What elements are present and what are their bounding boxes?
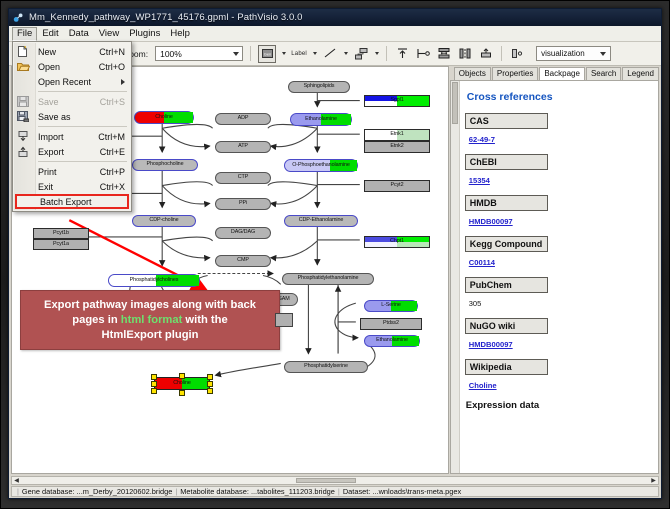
cross-references-title: Cross references: [467, 91, 652, 103]
scrollbar-thumb[interactable]: [296, 478, 356, 483]
selection-handle[interactable]: [151, 374, 157, 380]
label-tool-button[interactable]: Label: [291, 46, 307, 62]
scrollbar-thumb[interactable]: [452, 82, 458, 124]
selection-handle[interactable]: [179, 373, 185, 379]
selection-handle[interactable]: [151, 388, 157, 394]
xref-kegg-compound: Kegg Compound C00114: [465, 236, 652, 270]
side-panel: Objects Properties Backpage Search Legen…: [450, 66, 659, 474]
node-label: ATP: [238, 144, 248, 149]
node-label: Pcyt1a: [53, 242, 69, 247]
node-label: Phosphatidylcholines: [130, 278, 179, 283]
node-dag[interactable]: DAG/DAG: [215, 227, 271, 239]
xref-link[interactable]: C00114: [469, 258, 495, 267]
node-label: Pcyt2: [391, 183, 404, 188]
node-cdp-choline[interactable]: CDP-choline: [132, 215, 196, 227]
scroll-right-arrow[interactable]: ▶: [649, 477, 658, 484]
submenu-arrow-icon: [121, 79, 125, 85]
node-sphingolipids[interactable]: Sphingolipids: [288, 81, 350, 93]
visualization-combo[interactable]: visualization: [536, 46, 611, 61]
backpage-scrollbar[interactable]: [451, 81, 460, 473]
menu-plugins[interactable]: Plugins: [124, 27, 165, 41]
node-label: CMP: [237, 258, 249, 263]
banner-line-1: Export pathway images along with back: [44, 298, 256, 313]
node-ppi[interactable]: PPi: [215, 198, 271, 210]
node-cmp[interactable]: CMP: [215, 255, 271, 267]
horizontal-scrollbar[interactable]: ◀ ▶: [11, 476, 659, 485]
dataset-value: ...wnloads\trans-meta.pgex: [372, 487, 461, 496]
node-label: Ptdss2: [383, 321, 399, 326]
node-adp[interactable]: ADP: [215, 113, 271, 125]
xref-label: PubChem: [465, 277, 548, 293]
visualization-value: visualization: [541, 49, 585, 58]
menu-item-export[interactable]: Export Ctrl+E: [13, 144, 131, 159]
selection-handle[interactable]: [151, 381, 157, 387]
node-ctp[interactable]: CTP: [215, 172, 271, 184]
status-divider: |: [17, 487, 19, 496]
node-label: Phosphocholine: [147, 162, 184, 167]
node-ptdss2[interactable]: Ptdss2: [360, 318, 422, 330]
xref-label: Wikipedia: [465, 359, 548, 375]
status-divider: |: [175, 487, 177, 496]
node-choline[interactable]: Choline: [134, 111, 194, 124]
desktop-background: Mm_Kennedy_pathway_WP1771_45176.gpml - P…: [0, 0, 670, 509]
menu-item-label: Batch Export: [40, 197, 92, 207]
node-sgpl1[interactable]: Sgpl1: [364, 95, 430, 107]
xref-link[interactable]: 62-49-7: [469, 135, 495, 144]
xref-label: NuGO wiki: [465, 318, 548, 334]
title-bar: Mm_Kennedy_pathway_WP1771_45176.gpml - P…: [9, 9, 661, 26]
pathvisio-icon: [13, 12, 24, 23]
gene-database-value: ...m_Derby_20120602.bridge: [77, 487, 173, 496]
node-label: O-Phosphoethanolamine: [292, 163, 350, 168]
backpage-panel: Cross references CAS 62-49-7 ChEBI 15354…: [450, 80, 659, 474]
xref-link[interactable]: 15354: [469, 176, 490, 185]
menu-bar: File Edit Data View Plugins Help: [9, 26, 661, 42]
node-label: PPi: [239, 201, 247, 206]
toolbar-separator-2: [386, 46, 387, 61]
node-label: Phosphatidylethanolamine: [298, 276, 359, 281]
expression-data-title: Expression data: [466, 400, 652, 411]
menu-item-save-as[interactable]: Save as: [13, 109, 131, 124]
node-phosphatidylcholines[interactable]: Phosphatidylcholines: [108, 274, 200, 287]
banner-line2-part2: with the: [182, 314, 227, 326]
save-as-icon: [17, 111, 30, 122]
node-label: Phosphatidylserine: [304, 364, 348, 369]
tab-properties[interactable]: Properties: [492, 67, 538, 80]
menu-item-label: Print: [38, 167, 57, 177]
tab-objects[interactable]: Objects: [454, 67, 491, 80]
node-label: L-Serine: [381, 303, 401, 308]
menu-item-import[interactable]: Import Ctrl+M: [13, 129, 131, 144]
xref-hmdb: HMDB HMDB00097: [465, 195, 652, 229]
shape-dropdown-icon[interactable]: [375, 52, 379, 55]
metabolite-database-label: Metabolite database:: [180, 487, 249, 496]
stack-vertical-icon[interactable]: [436, 46, 452, 62]
xref-label: HMDB: [465, 195, 548, 211]
save-icon: [17, 96, 30, 107]
menu-item-accel: Ctrl+O: [99, 62, 125, 72]
node-label: CTP: [238, 175, 248, 180]
xref-value: 305: [469, 299, 482, 308]
zoom-value: 100%: [160, 49, 182, 59]
menu-item-accel: Ctrl+X: [100, 182, 125, 192]
window-title: Mm_Kennedy_pathway_WP1771_45176.gpml - P…: [29, 12, 303, 23]
scroll-left-arrow[interactable]: ◀: [12, 477, 21, 484]
menu-data[interactable]: Data: [64, 27, 94, 41]
menu-item-label: Open Recent: [38, 77, 91, 87]
datanode-tool-button[interactable]: Gen: [258, 45, 276, 63]
metabolite-database-value: ...tabolites_111203.bridge: [251, 487, 335, 496]
visualization-icon: [509, 46, 525, 62]
selection-handle[interactable]: [179, 390, 185, 396]
menu-item-label: Export: [38, 147, 64, 157]
node-label: Choline: [173, 381, 191, 386]
status-bar: | Gene database: ...m_Derby_20120602.bri…: [11, 486, 659, 497]
dataset-label: Dataset:: [343, 487, 371, 496]
file-menu-dropdown[interactable]: New Ctrl+N Open Ctrl+O Open Recent Save: [12, 41, 132, 212]
menu-file[interactable]: File: [12, 27, 37, 41]
selection-handle[interactable]: [207, 381, 213, 387]
shape-tool-button[interactable]: [353, 46, 369, 62]
xref-pubchem: PubChem 305: [465, 277, 652, 311]
menu-item-exit[interactable]: Exit Ctrl+X: [13, 179, 131, 194]
node-o-phosphoethanolamine[interactable]: O-Phosphoethanolamine: [284, 159, 358, 172]
menu-item-open-recent[interactable]: Open Recent: [13, 74, 131, 89]
menu-item-open[interactable]: Open Ctrl+O: [13, 59, 131, 74]
banner-line2-part1: pages in: [72, 314, 121, 326]
menu-item-batch-export[interactable]: Batch Export: [15, 194, 129, 209]
node-label: Choline: [155, 115, 173, 120]
node-label: Chpt1: [390, 239, 404, 244]
node-label: Sphingolipids: [304, 84, 335, 89]
align-left-icon[interactable]: [415, 46, 431, 62]
banner-html-format: html format: [121, 314, 183, 326]
svg-text:Gen: Gen: [263, 51, 271, 56]
menu-item-accel: Ctrl+M: [98, 132, 125, 142]
xref-wikipedia: Wikipedia Choline: [465, 359, 652, 393]
node-pcyt2[interactable]: Pcyt2: [364, 180, 430, 192]
node-label: Pcyt1b: [53, 231, 69, 236]
menu-separator: [38, 126, 127, 127]
toolbar-separator: [250, 46, 251, 61]
tab-search[interactable]: Search: [586, 67, 621, 80]
node-ethanolamine-2[interactable]: Ethanolamine: [364, 335, 420, 347]
node-label: DAG/DAG: [231, 230, 255, 235]
node-label: Sgpl1: [390, 98, 403, 103]
node-label: Ethanolamine: [376, 338, 408, 343]
pathway-anchor-block: [275, 313, 293, 327]
chevron-down-icon: [233, 52, 239, 56]
menu-item-save[interactable]: Save Ctrl+S: [13, 94, 131, 109]
node-phosphatidylethanolamine[interactable]: Phosphatidylethanolamine: [282, 273, 374, 285]
node-cdp-ethanolamine[interactable]: CDP-Ethanolamine: [284, 215, 358, 227]
align-top-icon[interactable]: [394, 46, 410, 62]
banner-line-2: pages in html format with the: [72, 313, 227, 328]
menu-item-accel: Ctrl+N: [99, 47, 125, 57]
selection-handle[interactable]: [207, 388, 213, 394]
node-label: Ethanolamine: [305, 117, 337, 122]
node-etnk1[interactable]: Etnk1: [364, 129, 430, 141]
node-l-serine[interactable]: L-Serine: [364, 300, 418, 312]
zoom-combo[interactable]: 100%: [155, 46, 243, 61]
node-etnk2[interactable]: Etnk2: [364, 141, 430, 153]
new-file-icon: [17, 46, 30, 57]
line-tool-button[interactable]: [322, 46, 338, 62]
side-panel-tabs: Objects Properties Backpage Search Legen…: [450, 66, 659, 80]
xref-label: ChEBI: [465, 154, 548, 170]
xref-link[interactable]: HMDB00097: [469, 340, 513, 349]
node-label: SAM: [278, 297, 289, 302]
menu-item-print[interactable]: Print Ctrl+P: [13, 164, 131, 179]
menu-item-label: New: [38, 47, 56, 57]
chevron-down-icon: [600, 52, 606, 56]
node-phosphocholine[interactable]: Phosphocholine: [132, 159, 198, 171]
menu-separator: [38, 91, 127, 92]
menu-item-accel: Ctrl+P: [100, 167, 125, 177]
xref-label: Kegg Compound: [465, 236, 548, 252]
node-label: CDP-Ethanolamine: [299, 218, 344, 223]
menu-item-accel: Ctrl+E: [100, 147, 125, 157]
menu-view[interactable]: View: [94, 27, 124, 41]
node-phosphatidylserine[interactable]: Phosphatidylserine: [284, 361, 368, 373]
menu-help[interactable]: Help: [165, 27, 195, 41]
menu-item-accel: Ctrl+S: [100, 97, 125, 107]
backpage-content: Cross references CAS 62-49-7 ChEBI 15354…: [461, 81, 658, 411]
menu-item-new[interactable]: New Ctrl+N: [13, 44, 131, 59]
banner-line-3: HtmlExport plugin: [102, 328, 199, 343]
node-chpt1[interactable]: Chpt1: [364, 236, 430, 248]
node-pcyt1b[interactable]: Pcyt1b: [33, 228, 89, 239]
node-choline-selected[interactable]: Choline: [154, 377, 210, 390]
pathvisio-window: Mm_Kennedy_pathway_WP1771_45176.gpml - P…: [8, 8, 662, 499]
menu-item-label: Save as: [38, 112, 71, 122]
distribute-icon[interactable]: [457, 46, 473, 62]
menu-item-label: Import: [38, 132, 64, 142]
node-label: Etnk2: [390, 144, 403, 149]
line-dropdown-icon[interactable]: [344, 52, 348, 55]
tab-legend[interactable]: Legend: [622, 67, 659, 80]
node-label: ADP: [238, 116, 249, 121]
datanode-dropdown-icon[interactable]: [282, 52, 286, 55]
open-folder-icon: [17, 61, 30, 72]
import-icon: [17, 131, 30, 142]
xref-link[interactable]: Choline: [469, 381, 497, 390]
menu-item-label: Save: [38, 97, 59, 107]
node-pcyt1a[interactable]: Pcyt1a: [33, 239, 89, 250]
export-icon: [17, 146, 30, 157]
menu-item-label: Exit: [38, 182, 53, 192]
gene-database-label: Gene database:: [22, 487, 75, 496]
node-label: CDP-choline: [149, 218, 178, 223]
node-ethanolamine[interactable]: Ethanolamine: [290, 113, 352, 126]
xref-link[interactable]: HMDB00097: [469, 217, 513, 226]
status-divider: |: [338, 487, 340, 496]
toolbar-separator-3: [501, 46, 502, 61]
node-label: Etnk1: [390, 132, 403, 137]
xref-label: CAS: [465, 113, 548, 129]
xref-chebi: ChEBI 15354: [465, 154, 652, 188]
node-atp[interactable]: ATP: [215, 141, 271, 153]
menu-item-label: Open: [38, 62, 60, 72]
tab-backpage[interactable]: Backpage: [539, 67, 585, 81]
xref-nugo-wiki: NuGO wiki HMDB00097: [465, 318, 652, 352]
selection-handle[interactable]: [207, 374, 213, 380]
xref-cas: CAS 62-49-7: [465, 113, 652, 147]
menu-edit[interactable]: Edit: [37, 27, 63, 41]
menu-separator: [38, 161, 127, 162]
label-dropdown-icon[interactable]: [313, 52, 317, 55]
bring-to-front-icon[interactable]: [478, 46, 494, 62]
annotation-banner: Export pathway images along with back pa…: [20, 290, 280, 350]
status-area: ◀ ▶ | Gene database: ...m_Derby_20120602…: [9, 476, 661, 498]
